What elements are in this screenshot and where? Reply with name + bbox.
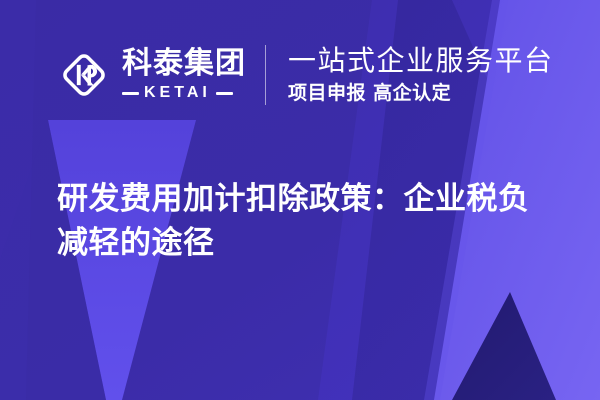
tagline-group: 一站式企业服务平台 项目申报 高企认定 [288, 46, 554, 103]
tagline-primary: 一站式企业服务平台 [288, 46, 554, 76]
brand-name-cn: 科泰集团 [122, 49, 246, 79]
header-divider [265, 45, 266, 105]
promo-banner: 科泰集团 KETAI 一站式企业服务平台 项目申报 高企认定 研发费用加计扣除政… [0, 0, 600, 400]
tagline-secondary: 项目申报 高企认定 [288, 84, 554, 104]
article-headline: 研发费用加计扣除政策：企业税负减轻的途径 [57, 177, 557, 265]
brand-name-en: KETAI [144, 85, 211, 101]
ketai-diamond-kp-monogram-icon [57, 48, 111, 102]
brand-wordmark: 科泰集团 KETAI [122, 49, 246, 101]
banner-header: 科泰集团 KETAI 一站式企业服务平台 项目申报 高企认定 [0, 0, 600, 150]
dash-right-icon [216, 92, 233, 95]
brand-name-en-row: KETAI [122, 85, 246, 101]
dash-left-icon [122, 92, 139, 95]
brand-logo[interactable]: 科泰集团 KETAI [57, 48, 246, 102]
